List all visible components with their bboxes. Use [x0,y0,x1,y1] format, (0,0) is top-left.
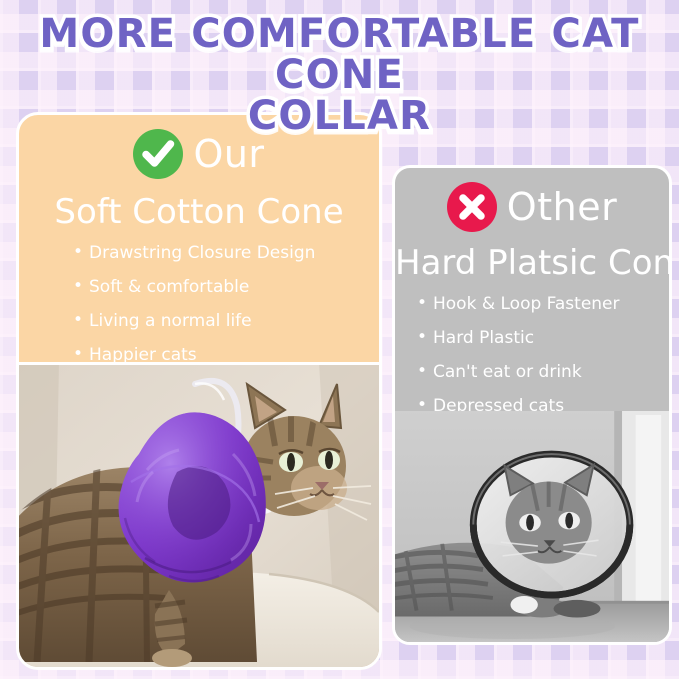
cat-wearing-hard-plastic-cone-photo [395,411,669,642]
our-subtitle: Soft Cotton Cone [19,195,379,229]
list-item: Living a normal life [73,313,379,330]
panel-divider [19,362,379,365]
other-panel-header: Other Hard Platsic Cone [395,168,669,280]
other-heading: Other [507,188,617,226]
our-feature-list: Drawstring Closure Design Soft & comfort… [19,245,379,364]
list-item: Hard Plastic [417,330,669,347]
page-title-line-2: COLLAR [0,96,679,137]
list-item: Soft & comfortable [73,279,379,296]
comparison-panel-other: Other Hard Platsic Cone Hook & Loop Fast… [392,165,672,645]
check-circle-icon [133,129,183,179]
page-title-line-1: MORE COMFORTABLE CAT CONE [0,14,679,96]
other-subtitle: Hard Platsic Cone [395,246,669,280]
page-title: MORE COMFORTABLE CAT CONE COLLAR [0,14,679,136]
comparison-panel-our: Our Soft Cotton Cone Drawstring Closure … [16,112,382,670]
list-item: Can't eat or drink [417,364,669,381]
cat-wearing-purple-soft-donut-collar-photo [19,365,379,667]
list-item: Hook & Loop Fastener [417,296,669,313]
x-circle-icon [447,182,497,232]
list-item: Drawstring Closure Design [73,245,379,262]
other-badge-row: Other [395,182,669,232]
other-feature-list: Hook & Loop Fastener Hard Plastic Can't … [395,296,669,415]
our-heading: Our [193,135,264,173]
